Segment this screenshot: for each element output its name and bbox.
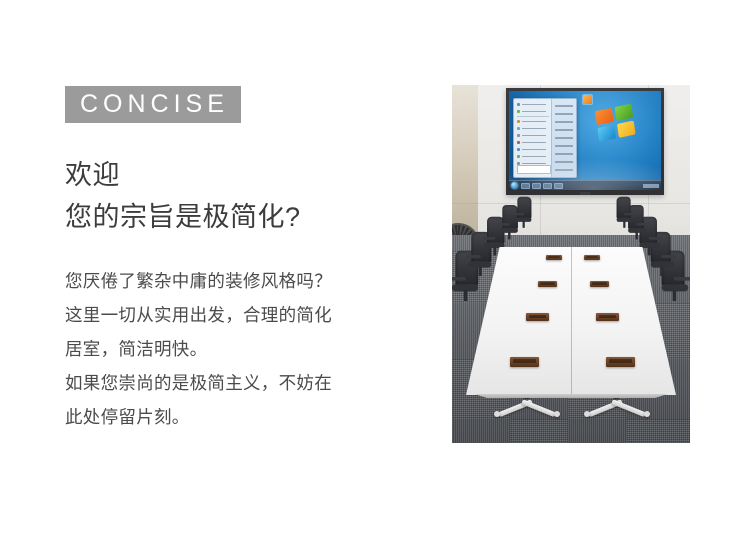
carpet-tile xyxy=(510,419,568,443)
taskbar-button[interactable] xyxy=(543,183,552,189)
body-line-5: 此处停留片刻。 xyxy=(65,400,415,434)
caster-wheel xyxy=(554,411,560,417)
start-menu-panel xyxy=(513,98,577,178)
cable-port xyxy=(584,255,600,260)
logo-pane-orange xyxy=(595,108,614,125)
office-chair xyxy=(517,197,536,230)
heading-line-2: 您的宗旨是极简化? xyxy=(65,196,415,238)
wall-seam xyxy=(452,203,690,204)
logo-pane-green xyxy=(615,103,634,120)
cable-port xyxy=(596,313,619,321)
taskbar-button[interactable] xyxy=(554,183,563,189)
caster-wheel xyxy=(584,411,590,417)
desktop-folder-icon xyxy=(583,95,592,104)
headings-group: 欢迎 您的宗旨是极简化? xyxy=(65,154,415,238)
concise-badge: CONCISE xyxy=(65,86,241,123)
body-copy: 您厌倦了繁杂中庸的装修风格吗？ 这里一切从实用出发，合理的简化 居室，简洁明快。… xyxy=(65,264,415,434)
wall-display xyxy=(506,88,664,195)
start-orb-icon[interactable] xyxy=(511,182,518,189)
caster-wheel xyxy=(644,411,650,417)
start-menu-programs xyxy=(514,99,552,177)
body-line-1: 您厌倦了繁杂中庸的装修风格吗？ xyxy=(65,264,415,298)
body-line-3: 居室，简洁明快。 xyxy=(65,332,415,366)
display-mount xyxy=(580,192,590,195)
heading-line-1: 欢迎 xyxy=(65,154,415,196)
page-root: { "page": { "background_color": "#ffffff… xyxy=(0,0,750,536)
cable-port xyxy=(546,255,562,260)
windows-logo-icon xyxy=(595,103,639,145)
taskbar-button[interactable] xyxy=(532,183,541,189)
caster-wheel xyxy=(494,411,500,417)
body-line-4: 如果您崇尚的是极简主义，不妨在 xyxy=(65,366,415,400)
carpet-tile xyxy=(626,419,690,443)
cable-port xyxy=(606,357,635,367)
meeting-room-photo xyxy=(452,85,690,443)
display-screen xyxy=(509,91,661,190)
taskbar xyxy=(509,180,661,190)
office-chair xyxy=(611,197,630,230)
start-menu-search-input[interactable] xyxy=(517,165,551,174)
table-seam xyxy=(571,247,572,395)
logo-pane-blue xyxy=(598,124,617,141)
body-line-2: 这里一切从实用出发，合理的简化 xyxy=(65,298,415,332)
cable-port xyxy=(510,357,539,367)
cable-port xyxy=(538,281,557,287)
logo-pane-yellow xyxy=(617,120,636,137)
cable-port xyxy=(590,281,609,287)
table-half-left xyxy=(466,247,571,395)
text-column: CONCISE 欢迎 您的宗旨是极简化? 您厌倦了繁杂中庸的装修风格吗？ 这里一… xyxy=(65,86,415,434)
start-menu-places xyxy=(551,99,576,177)
table-half-right xyxy=(571,247,676,395)
table-edge xyxy=(466,394,676,398)
cable-port xyxy=(526,313,549,321)
taskbar-button[interactable] xyxy=(521,183,530,189)
conference-table xyxy=(466,247,676,395)
taskbar-clock xyxy=(643,184,659,188)
